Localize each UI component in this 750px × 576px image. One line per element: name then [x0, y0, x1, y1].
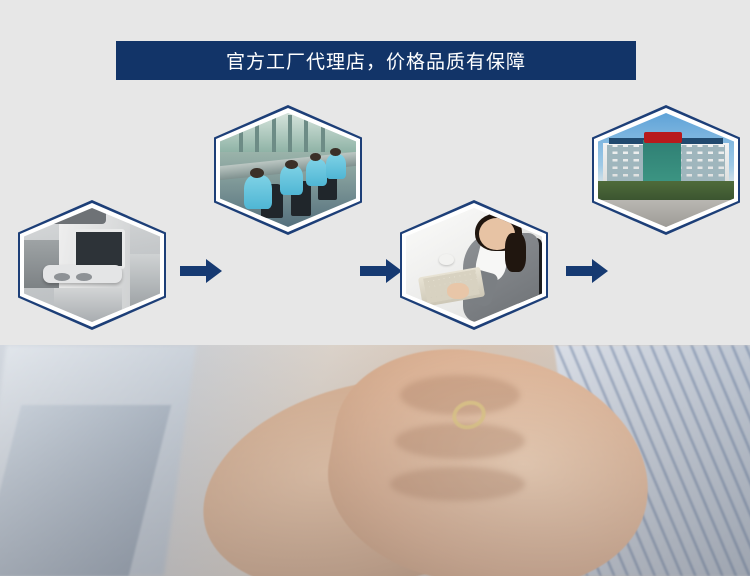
process-step-company-building — [592, 105, 740, 235]
headline-bar: 官方工厂代理店，价格品质有保障 — [116, 41, 636, 80]
process-step-factory — [214, 105, 362, 235]
headline-text: 官方工厂代理店，价格品质有保障 — [226, 47, 526, 74]
bottom-section: 诚信专业，珍视每一份信赖 正 正品保证 7 — [0, 345, 750, 576]
arrow-right-icon-3 — [566, 258, 608, 284]
promo-banner-page: 官方工厂代理店，价格品质有保障 — [0, 0, 750, 576]
arrow-right-icon-1 — [180, 258, 222, 284]
process-step-office-staff — [400, 200, 548, 330]
photo-overlay — [0, 345, 750, 576]
arrow-right-icon-2 — [360, 258, 402, 284]
process-step-equipment — [18, 200, 166, 330]
top-section: 官方工厂代理店，价格品质有保障 — [0, 0, 750, 345]
process-flow — [0, 100, 750, 335]
